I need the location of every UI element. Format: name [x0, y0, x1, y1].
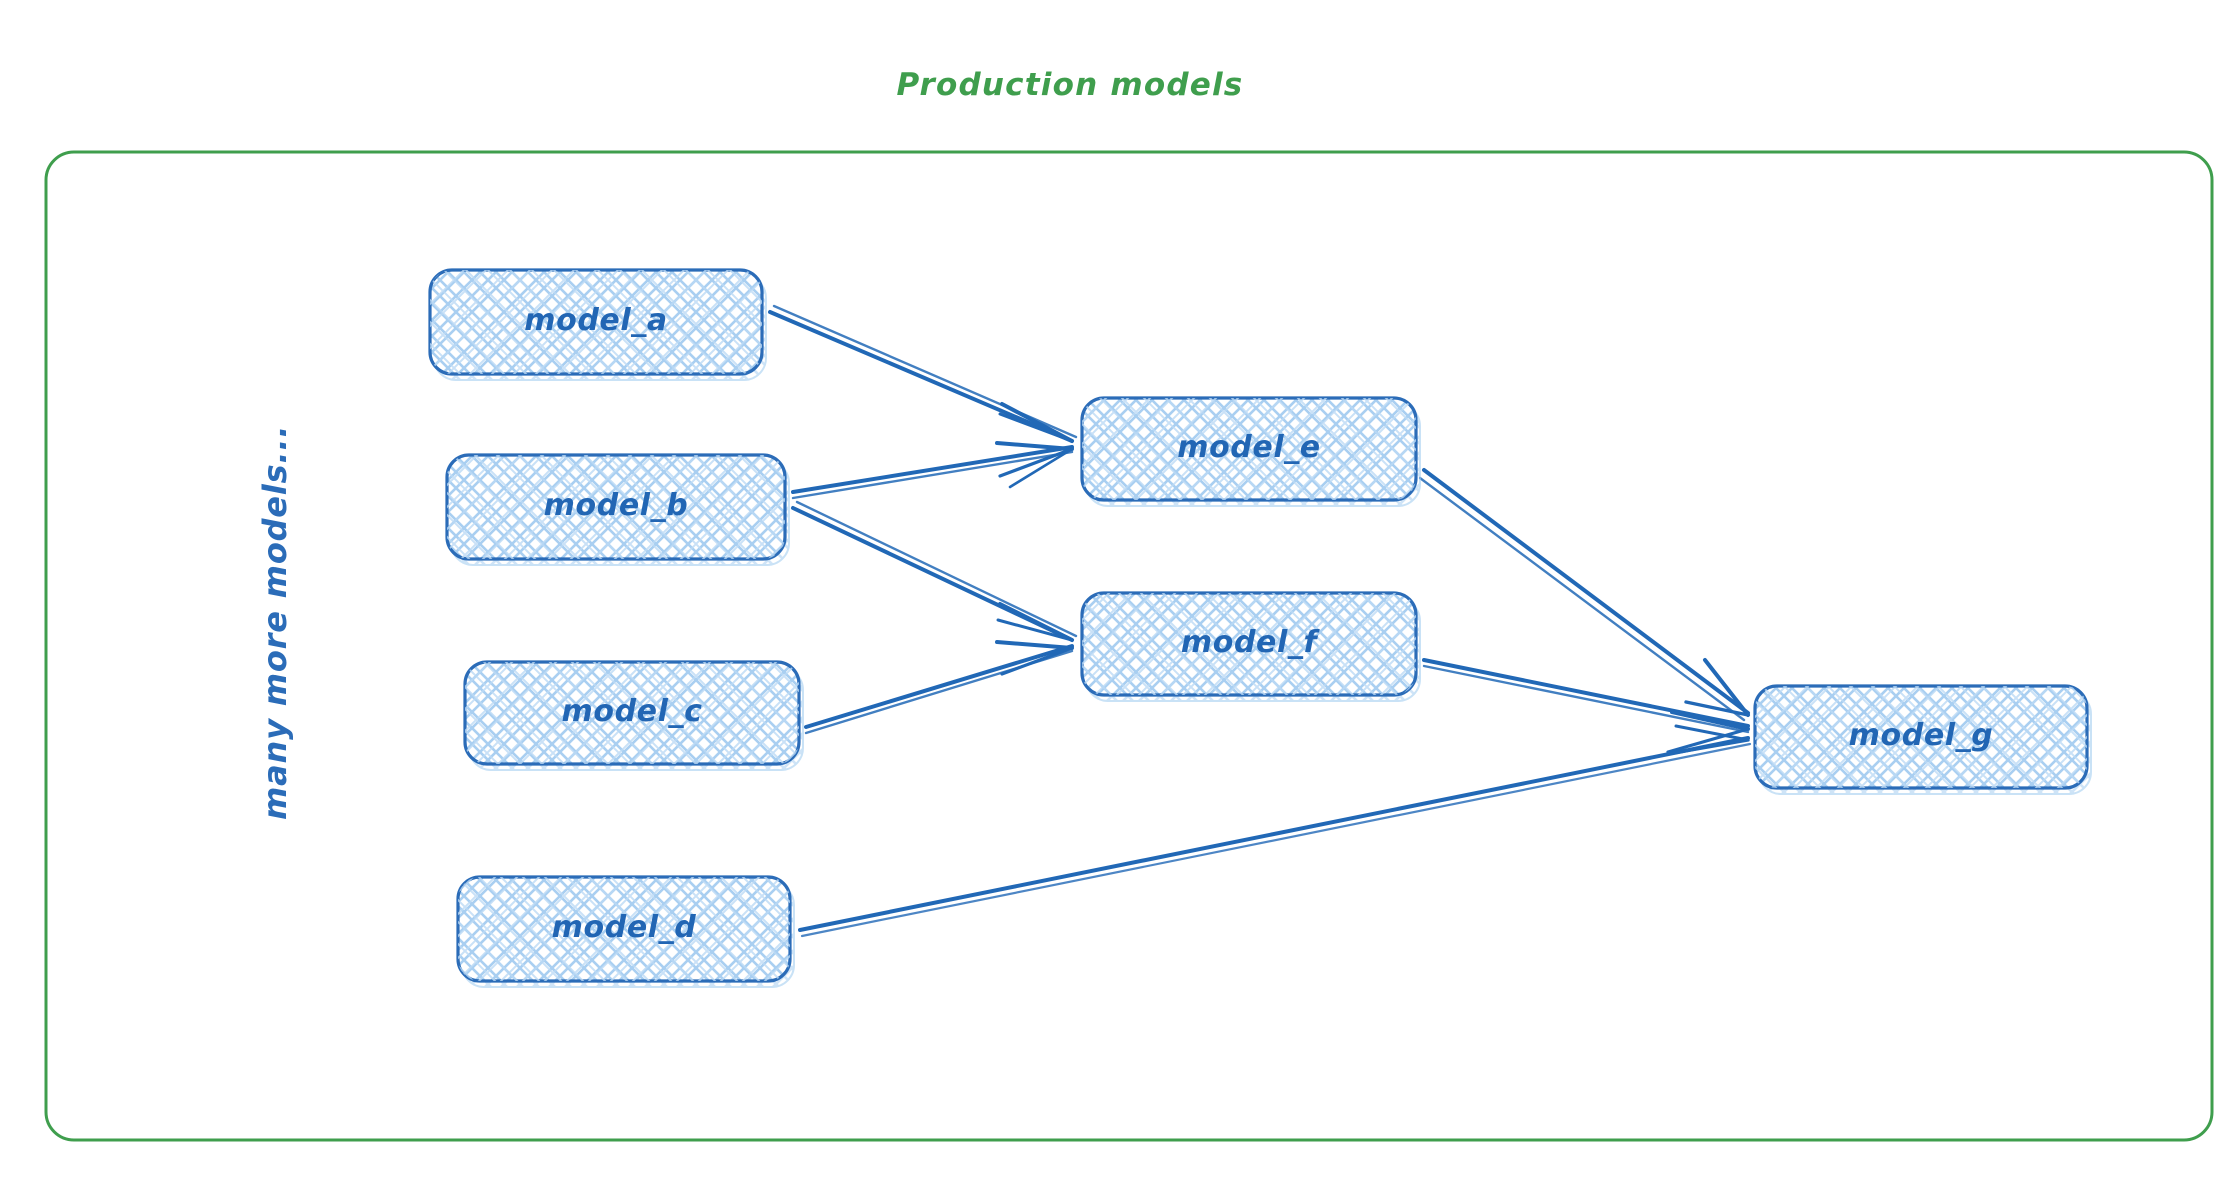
diagram-canvas: Production models many more models...	[0, 0, 2240, 1188]
node-model-b[interactable]: model_b	[447, 455, 789, 565]
node-label-model-e: model_e	[1177, 430, 1321, 465]
production-models-diagram: Production models many more models...	[0, 0, 2240, 1188]
edge-model-a-to-model-e	[770, 306, 1076, 441]
node-label-model-b: model_b	[544, 488, 689, 523]
node-label-model-f: model_f	[1181, 625, 1321, 660]
node-label-model-d: model_d	[552, 910, 697, 945]
node-model-c[interactable]: model_c	[465, 662, 803, 770]
page-title: Production models	[897, 67, 1244, 103]
node-label-model-c: model_c	[562, 694, 703, 729]
node-model-a[interactable]: model_a	[430, 270, 766, 380]
edge-model-b-to-model-e	[793, 443, 1072, 498]
many-more-models-note: many more models...	[256, 425, 294, 820]
node-model-f[interactable]: model_f	[1082, 593, 1420, 701]
edge-model-b-to-model-f	[793, 502, 1076, 640]
edge-model-c-to-model-f	[806, 642, 1072, 733]
node-layer: model_a model_b model_c model_d	[430, 270, 2091, 987]
node-model-g[interactable]: model_g	[1755, 686, 2091, 794]
edge-model-e-to-model-g	[1420, 470, 1748, 720]
node-model-e[interactable]: model_e	[1082, 398, 1420, 506]
side-note-label: many more models...	[256, 425, 294, 820]
edge-model-d-to-model-g	[800, 726, 1750, 936]
node-label-model-g: model_g	[1849, 718, 1994, 753]
node-label-model-a: model_a	[524, 303, 667, 338]
node-model-d[interactable]: model_d	[458, 877, 794, 987]
